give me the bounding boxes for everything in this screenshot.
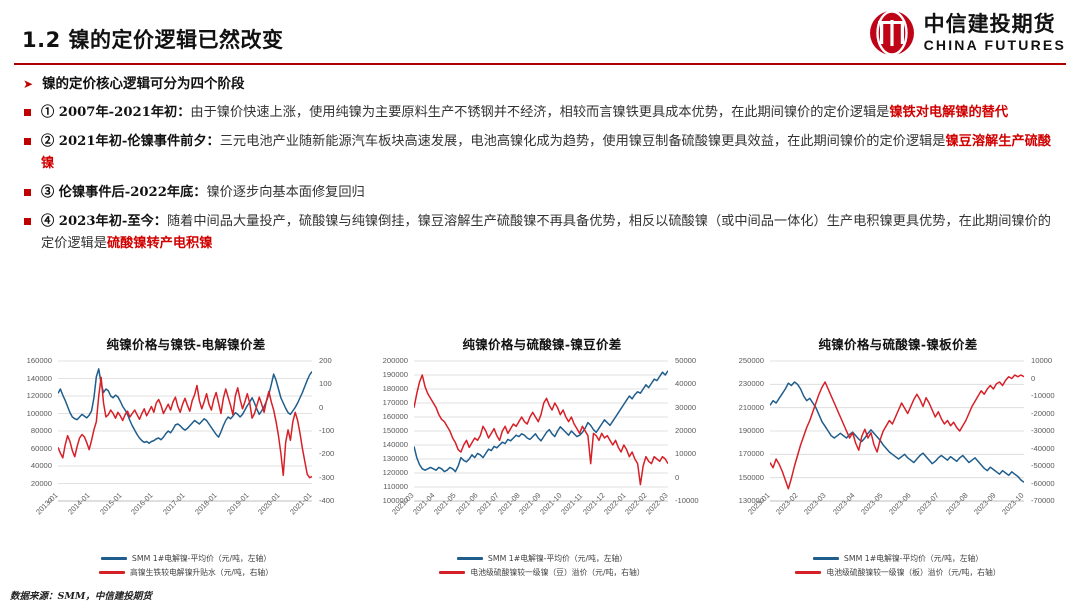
y-axis-left-tick: 250000 — [726, 356, 764, 365]
stage-1-text: ① 2007年-2021年初：由于镍价快速上涨，使用纯镍为主要原料生产不锈钢并不… — [41, 102, 1051, 124]
square-bullet-icon — [24, 109, 31, 116]
chart-title: 纯镍价格与硫酸镍-镍豆价差 — [366, 334, 718, 353]
y-axis-left-tick: 110000 — [370, 482, 408, 491]
stage-2-body: 三元电池产业随新能源汽车板块高速发展，电池高镍化成为趋势，使用镍豆制备硫酸镍更具… — [220, 134, 946, 149]
y-axis-right-tick: -30000 — [1031, 426, 1055, 435]
legend-item[interactable]: 电池级硫酸镍较一级镍（板）溢价（元/吨，右轴） — [795, 567, 1000, 578]
citic-futures-logo-icon — [869, 10, 915, 56]
legend-item[interactable]: 高镍生铁较电解镍升贴水（元/吨，右轴） — [99, 567, 273, 578]
stage-3-label: ③ 伦镍事件后-2022年底： — [41, 185, 206, 200]
y-axis-left-tick: 180000 — [370, 384, 408, 393]
chart-legend: SMM 1#电解镍-平均价（元/吨，左轴）高镍生铁较电解镍升贴水（元/吨，右轴） — [10, 553, 362, 578]
y-axis-right-tick: -200 — [319, 449, 334, 458]
y-axis-left-tick: 200000 — [370, 356, 408, 365]
y-axis-right-tick: 50000 — [675, 356, 696, 365]
plot-lines — [414, 357, 668, 507]
legend-item[interactable]: 电池级硫酸镍较一级镍（豆）溢价（元/吨，右轴） — [439, 567, 644, 578]
stage-1-highlight: 镍铁对电解镍的替代 — [889, 105, 1008, 120]
y-axis-left-tick: 130000 — [370, 454, 408, 463]
stage-1-body: 由于镍价快速上涨，使用纯镍为主要原料生产不锈钢并不经济，相较而言镍铁更具成本优势… — [190, 105, 889, 120]
legend-item[interactable]: SMM 1#电解镍-平均价（元/吨，左轴） — [101, 553, 271, 564]
y-axis-right-tick: 0 — [319, 403, 323, 412]
y-axis-right-tick: -60000 — [1031, 479, 1055, 488]
y-axis-left-tick: 190000 — [726, 426, 764, 435]
stage-4-label: ④ 2023年初-至今： — [41, 214, 167, 229]
legend-color-swatch — [99, 571, 125, 574]
legend-item[interactable]: SMM 1#电解镍-平均价（元/吨，左轴） — [457, 553, 627, 564]
y-axis-right-tick: -100 — [319, 426, 334, 435]
y-axis-right-tick: 0 — [675, 473, 679, 482]
y-axis-right-tick: -10000 — [1031, 391, 1055, 400]
chart-legend: SMM 1#电解镍-平均价（元/吨，左轴）电池级硫酸镍较一级镍（豆）溢价（元/吨… — [366, 553, 718, 578]
legend-label: 电池级硫酸镍较一级镍（豆）溢价（元/吨，右轴） — [470, 567, 644, 578]
chart-nickel-vs-plate: 纯镍价格与硫酸镍-镍板价差 13000015000017000019000021… — [722, 332, 1074, 582]
y-axis-right-tick: -50000 — [1031, 461, 1055, 470]
square-bullet-icon — [24, 138, 31, 145]
lead-bullet: ➤ 镍的定价核心逻辑可分为四个阶段 — [23, 76, 1065, 93]
y-axis-left-tick: 80000 — [14, 426, 52, 435]
page-title: 1.2 镍的定价逻辑已然改变 — [22, 24, 284, 54]
y-axis-right-tick: 200 — [319, 356, 332, 365]
stage-4-highlight: 硫酸镍转产电积镍 — [107, 236, 213, 251]
legend-label: SMM 1#电解镍-平均价（元/吨，左轴） — [844, 553, 983, 564]
y-axis-right-tick: -400 — [319, 496, 334, 505]
y-axis-right-tick: -40000 — [1031, 444, 1055, 453]
y-axis-left-tick: 140000 — [14, 374, 52, 383]
arrow-bullet-icon: ➤ — [23, 76, 33, 93]
legend-item[interactable]: SMM 1#电解镍-平均价（元/吨，左轴） — [813, 553, 983, 564]
legend-color-swatch — [439, 571, 465, 574]
y-axis-right-tick: -20000 — [1031, 409, 1055, 418]
square-bullet-icon — [24, 189, 31, 196]
y-axis-left-tick: 160000 — [370, 412, 408, 421]
y-axis-left-tick: 170000 — [370, 398, 408, 407]
stage-1-label: ① 2007年-2021年初： — [41, 105, 190, 120]
chart-plot-area: 1300001500001700001900002100002300002500… — [726, 357, 1070, 507]
chart-plot-area: 0200004000060000800001000001200001400001… — [14, 357, 358, 507]
legend-label: SMM 1#电解镍-平均价（元/吨，左轴） — [132, 553, 271, 564]
y-axis-left-tick: 160000 — [14, 356, 52, 365]
list-item: ② 2021年初-伦镍事件前夕：三元电池产业随新能源汽车板块高速发展，电池高镍化… — [24, 131, 1065, 175]
y-axis-left-tick: 150000 — [726, 473, 764, 482]
list-item: ④ 2023年初-至今：随着中间品大量投产，硫酸镍与纯镍倒挂，镍豆溶解生产硫酸镍… — [24, 211, 1065, 255]
y-axis-right-tick: -10000 — [675, 496, 699, 505]
stage-3-text: ③ 伦镍事件后-2022年底：镍价逐步向基本面修复回归 — [41, 182, 1051, 204]
stage-3-body: 镍价逐步向基本面修复回归 — [206, 185, 364, 200]
plot-lines — [770, 357, 1024, 507]
y-axis-right-tick: 20000 — [675, 426, 696, 435]
chart-x-axis: 2023-012023-022023-032023-042023-052023-… — [726, 507, 1070, 549]
y-axis-right-tick: -300 — [319, 473, 334, 482]
chart-nickel-vs-briquette: 纯镍价格与硫酸镍-镍豆价差 10000011000012000013000014… — [366, 332, 718, 582]
y-axis-left-tick: 40000 — [14, 461, 52, 470]
y-axis-right-tick: 0 — [1031, 374, 1035, 383]
slide-header: 1.2 镍的定价逻辑已然改变 中信建投期货 CHINA FUTURES — [0, 0, 1080, 68]
lead-text: 镍的定价核心逻辑可分为四个阶段 — [42, 76, 245, 93]
y-axis-left-tick: 120000 — [14, 391, 52, 400]
plot-lines — [58, 357, 312, 507]
y-axis-right-tick: 30000 — [675, 403, 696, 412]
y-axis-left-tick: 20000 — [14, 479, 52, 488]
y-axis-left-tick: 190000 — [370, 370, 408, 379]
series-line — [770, 375, 1024, 489]
y-axis-left-tick: 120000 — [370, 468, 408, 477]
charts-row: 纯镍价格与镍铁-电解镍价差 02000040000600008000010000… — [0, 332, 1080, 582]
chart-nickel-vs-npi: 纯镍价格与镍铁-电解镍价差 02000040000600008000010000… — [10, 332, 362, 582]
y-axis-right-tick: 100 — [319, 379, 332, 388]
legend-label: 电池级硫酸镍较一级镍（板）溢价（元/吨，右轴） — [826, 567, 1000, 578]
stage-4-text: ④ 2023年初-至今：随着中间品大量投产，硫酸镍与纯镍倒挂，镍豆溶解生产硫酸镍… — [41, 211, 1051, 255]
list-item: ① 2007年-2021年初：由于镍价快速上涨，使用纯镍为主要原料生产不锈钢并不… — [24, 102, 1065, 124]
y-axis-right-tick: 10000 — [1031, 356, 1052, 365]
y-axis-left-tick: 230000 — [726, 379, 764, 388]
y-axis-left-tick: 140000 — [370, 440, 408, 449]
series-line — [58, 369, 312, 443]
y-axis-left-tick: 170000 — [726, 449, 764, 458]
stage-2-label: ② 2021年初-伦镍事件前夕： — [41, 134, 220, 149]
header-divider — [14, 63, 1066, 65]
y-axis-left-tick: 150000 — [370, 426, 408, 435]
legend-color-swatch — [457, 557, 483, 560]
chart-plot-area: 1000001100001200001300001400001500001600… — [370, 357, 714, 507]
stage-2-text: ② 2021年初-伦镍事件前夕：三元电池产业随新能源汽车板块高速发展，电池高镍化… — [41, 131, 1051, 175]
brand-name-en: CHINA FUTURES — [924, 38, 1066, 52]
y-axis-right-tick: 40000 — [675, 379, 696, 388]
legend-color-swatch — [813, 557, 839, 560]
legend-color-swatch — [101, 557, 127, 560]
y-axis-right-tick: 10000 — [675, 449, 696, 458]
legend-label: 高镍生铁较电解镍升贴水（元/吨，右轴） — [130, 567, 273, 578]
content-body: ➤ 镍的定价核心逻辑可分为四个阶段 ① 2007年-2021年初：由于镍价快速上… — [20, 76, 1065, 262]
list-item: ③ 伦镍事件后-2022年底：镍价逐步向基本面修复回归 — [24, 182, 1065, 204]
legend-label: SMM 1#电解镍-平均价（元/吨，左轴） — [488, 553, 627, 564]
chart-x-axis: 2013-012014-012015-012016-012017-012018-… — [14, 507, 358, 549]
source-note: 数据来源：SMM，中信建投期货 — [10, 588, 152, 602]
y-axis-right-tick: -70000 — [1031, 496, 1055, 505]
brand-logo: 中信建投期货 CHINA FUTURES — [869, 10, 1066, 56]
chart-title: 纯镍价格与镍铁-电解镍价差 — [10, 334, 362, 353]
square-bullet-icon — [24, 218, 31, 225]
series-line — [770, 382, 1024, 482]
chart-x-axis: 2021-032021-042021-052021-062021-072021-… — [370, 507, 714, 549]
series-line — [58, 377, 312, 477]
y-axis-left-tick: 60000 — [14, 444, 52, 453]
chart-title: 纯镍价格与硫酸镍-镍板价差 — [722, 334, 1074, 353]
y-axis-left-tick: 210000 — [726, 403, 764, 412]
brand-name-cn: 中信建投期货 — [924, 14, 1066, 35]
chart-legend: SMM 1#电解镍-平均价（元/吨，左轴）电池级硫酸镍较一级镍（板）溢价（元/吨… — [722, 553, 1074, 578]
y-axis-left-tick: 100000 — [14, 409, 52, 418]
legend-color-swatch — [795, 571, 821, 574]
